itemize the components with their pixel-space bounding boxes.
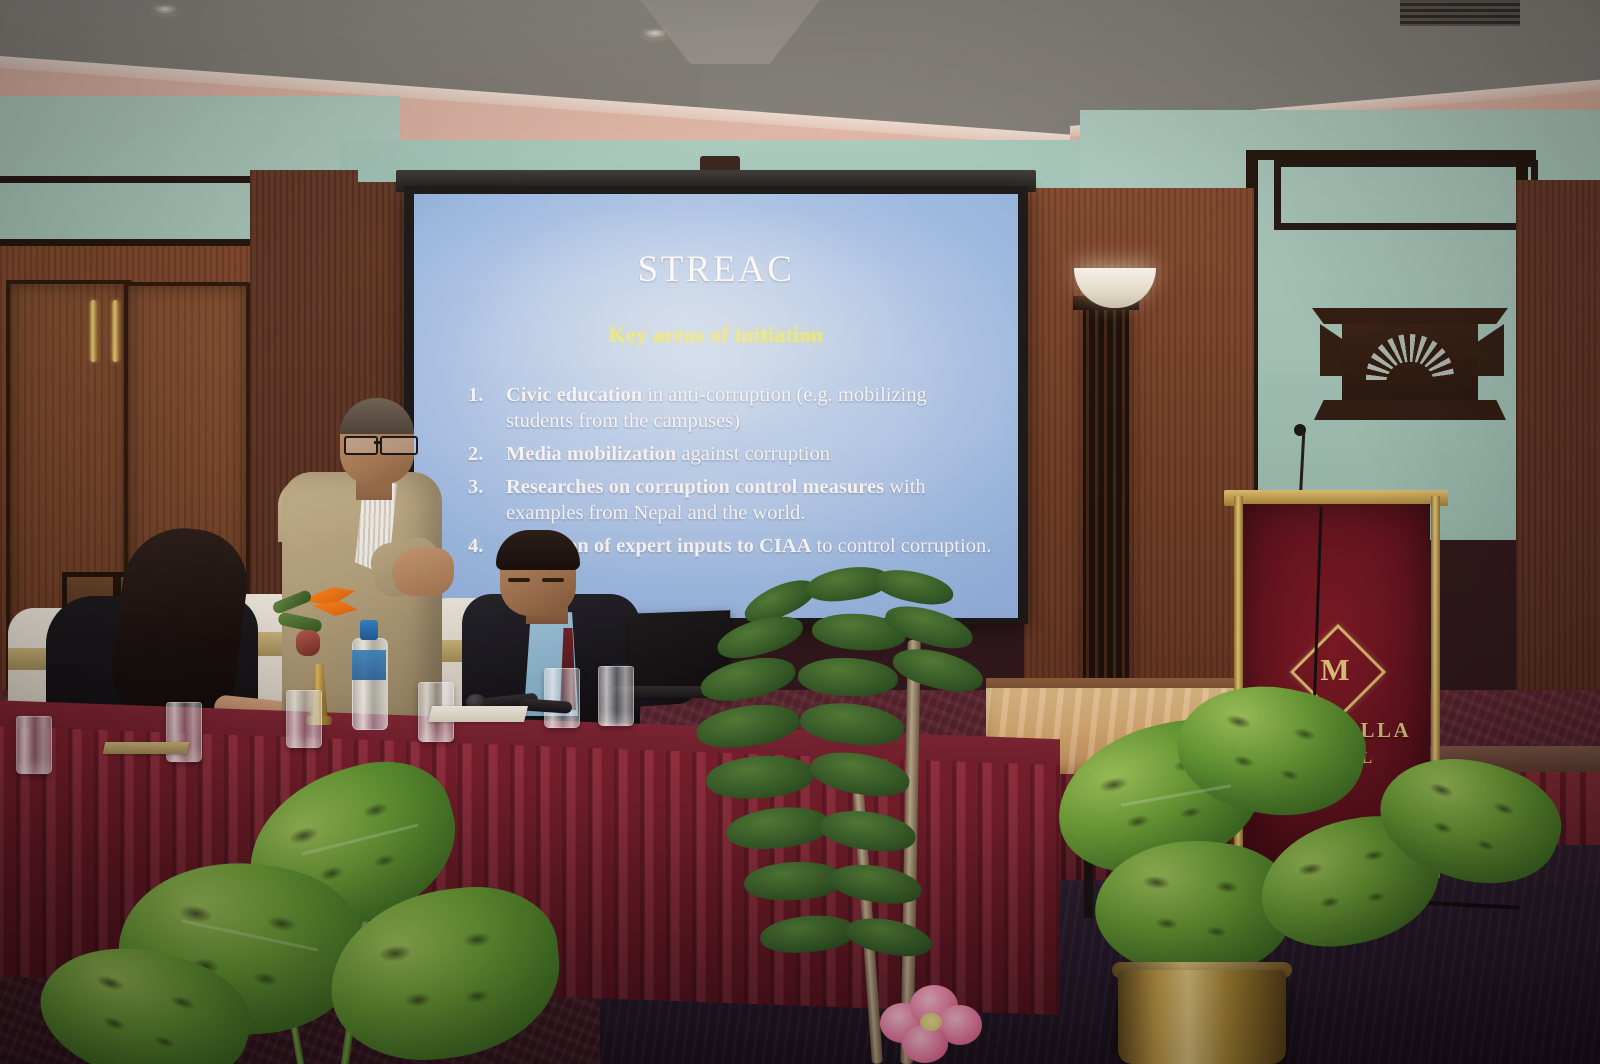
slide-bullet-item: 2.Media mobilization against corruption — [464, 441, 996, 467]
presenter-clasped-hands — [392, 548, 454, 596]
wall-trim-frame-right — [1274, 160, 1538, 230]
door-handle-right[interactable] — [112, 300, 119, 362]
eyeglass-lens-left — [344, 436, 378, 455]
ceiling-downlight — [642, 30, 668, 39]
carved-wooden-window — [1320, 308, 1500, 428]
slide-bullet-bold: Researches on corruption control measure… — [506, 476, 884, 498]
wood-wall-center-right — [1024, 188, 1254, 708]
ceiling-vent — [1400, 0, 1520, 26]
slide-bullet-number: 3. — [468, 474, 483, 500]
seated-man-brow-right — [542, 578, 564, 582]
brass-planter — [1118, 970, 1286, 1064]
drinking-glass[interactable] — [16, 716, 52, 774]
drinking-glass[interactable] — [598, 666, 634, 726]
flower-petal — [902, 1025, 948, 1063]
carved-window-sill — [1314, 400, 1506, 420]
slide-bullet-item: 3.Researches on corruption control measu… — [464, 474, 996, 526]
paper-document[interactable] — [428, 706, 528, 722]
slide-bullet-bold: Media mobilization — [506, 443, 676, 465]
podium-mic-head — [1294, 424, 1306, 436]
slide-title: STREAC — [414, 248, 1018, 291]
slide-bullet-item: 1.Civic education in anti-corruption (e.… — [464, 382, 996, 434]
bottle-cap — [360, 620, 378, 640]
slide-bullet-number: 2. — [468, 441, 483, 467]
wood-wall-far-right — [1516, 180, 1600, 740]
water-bottle[interactable] — [352, 620, 386, 728]
sconce-column — [1083, 305, 1129, 685]
flower-bract — [296, 630, 320, 656]
carved-window-lintel — [1312, 308, 1508, 324]
eyeglasses-icon — [344, 436, 418, 452]
slide-bullet-number: 1. — [468, 382, 483, 408]
wall-trim-header — [1246, 150, 1536, 160]
drinking-glass[interactable] — [544, 668, 580, 728]
conference-room-photo: STREAC Key areas of initiation 1.Civic e… — [0, 0, 1600, 1064]
ceiling-downlight — [152, 6, 178, 15]
carved-window-bracket-right — [1478, 324, 1504, 376]
drinking-glass[interactable] — [286, 690, 322, 748]
slide-bullet-rest: against corruption — [676, 443, 830, 465]
slide-bullet-number: 4. — [468, 533, 483, 559]
table-runner — [103, 742, 190, 754]
bottle-label — [352, 650, 386, 680]
slide-bullet-bold: Civic education — [506, 384, 642, 406]
eyeglass-lens-right — [380, 436, 418, 455]
slide-subtitle: Key areas of initiation — [414, 322, 1018, 348]
flower-center — [920, 1013, 942, 1031]
seated-man-brow-left — [508, 578, 530, 582]
door-handle-left[interactable] — [90, 300, 97, 362]
pink-flower — [880, 985, 984, 1063]
slide-bullet-rest: to control corruption. — [811, 535, 991, 557]
